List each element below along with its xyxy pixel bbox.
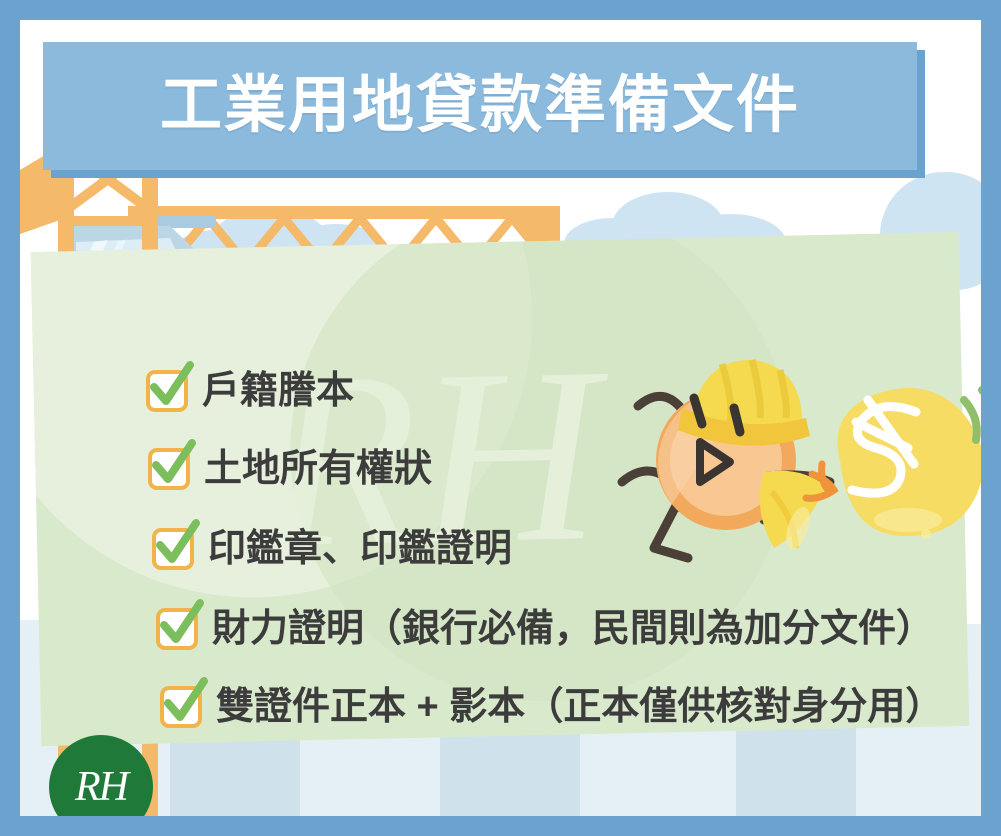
list-item-label: 戶籍謄本: [202, 372, 354, 410]
checkbox-checked[interactable]: [152, 528, 194, 570]
list-item-label: 土地所有權狀: [204, 450, 432, 488]
check-icon: [150, 517, 204, 571]
list-item[interactable]: 土地所有權狀: [148, 448, 432, 490]
list-item[interactable]: 財力證明 （銀行必備，民間則為加分文件）: [156, 608, 934, 650]
checkbox-checked[interactable]: [148, 448, 190, 490]
check-icon: [146, 437, 200, 491]
checkbox-checked[interactable]: [160, 686, 202, 728]
list-item[interactable]: 戶籍謄本: [146, 370, 354, 412]
title-banner: 工業用地貸款準備文件: [43, 42, 917, 170]
page-title: 工業用地貸款準備文件: [160, 75, 800, 137]
checkbox-checked[interactable]: [146, 370, 188, 412]
poster-root: RH 戶籍謄本: [0, 0, 1001, 836]
check-icon: [154, 597, 208, 651]
check-icon: [144, 359, 198, 413]
check-icon: [158, 675, 212, 729]
list-item-label: 財力證明: [212, 610, 364, 648]
coin-mascot-icon: [616, 352, 981, 602]
list-item-note: （正本僅供核對身分用）: [525, 688, 943, 726]
list-item[interactable]: 印鑑章、印鑑證明: [152, 528, 512, 570]
list-item-label: 印鑑章、印鑑證明: [208, 530, 512, 568]
brand-logo-text: RH: [75, 763, 127, 811]
checkbox-checked[interactable]: [156, 608, 198, 650]
list-item[interactable]: 雙證件正本 + 影本 （正本僅供核對身分用）: [160, 686, 943, 728]
list-item-label: 雙證件正本 + 影本: [216, 688, 525, 726]
list-item-note: （銀行必備，民間則為加分文件）: [364, 610, 934, 648]
